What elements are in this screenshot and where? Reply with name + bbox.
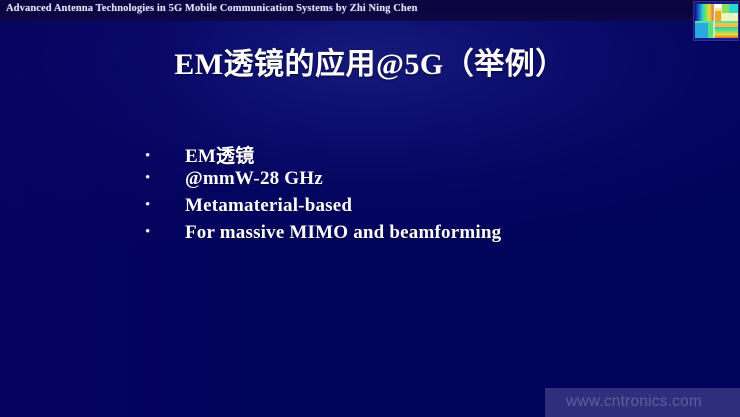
bullet-list: • EM透镜 • @mmW-28 GHz • Metamaterial-base… (140, 141, 700, 249)
field-simulation-thumbnail-icon (694, 2, 738, 40)
list-item: • EM透镜 (140, 141, 700, 168)
list-item-label: Metamaterial-based (185, 195, 700, 217)
list-item: • For massive MIMO and beamforming (140, 222, 700, 249)
presentation-header-title: Advanced Antenna Technologies in 5G Mobi… (6, 3, 418, 14)
bullet-marker-icon: • (140, 198, 185, 213)
bullet-marker-icon: • (140, 225, 185, 240)
list-item-label: For massive MIMO and beamforming (185, 222, 700, 244)
list-item-label: @mmW-28 GHz (185, 168, 700, 190)
bullet-marker-icon: • (140, 149, 185, 164)
list-item: • Metamaterial-based (140, 195, 700, 222)
slide-title: EM透镜的应用@5G（举例） (0, 39, 740, 83)
list-item: • @mmW-28 GHz (140, 168, 700, 195)
presentation-slide: Advanced Antenna Technologies in 5G Mobi… (0, 0, 740, 417)
list-item-label: EM透镜 (185, 141, 700, 168)
bullet-marker-icon: • (140, 171, 185, 186)
watermark-url: www.cntronics.com (566, 393, 702, 411)
